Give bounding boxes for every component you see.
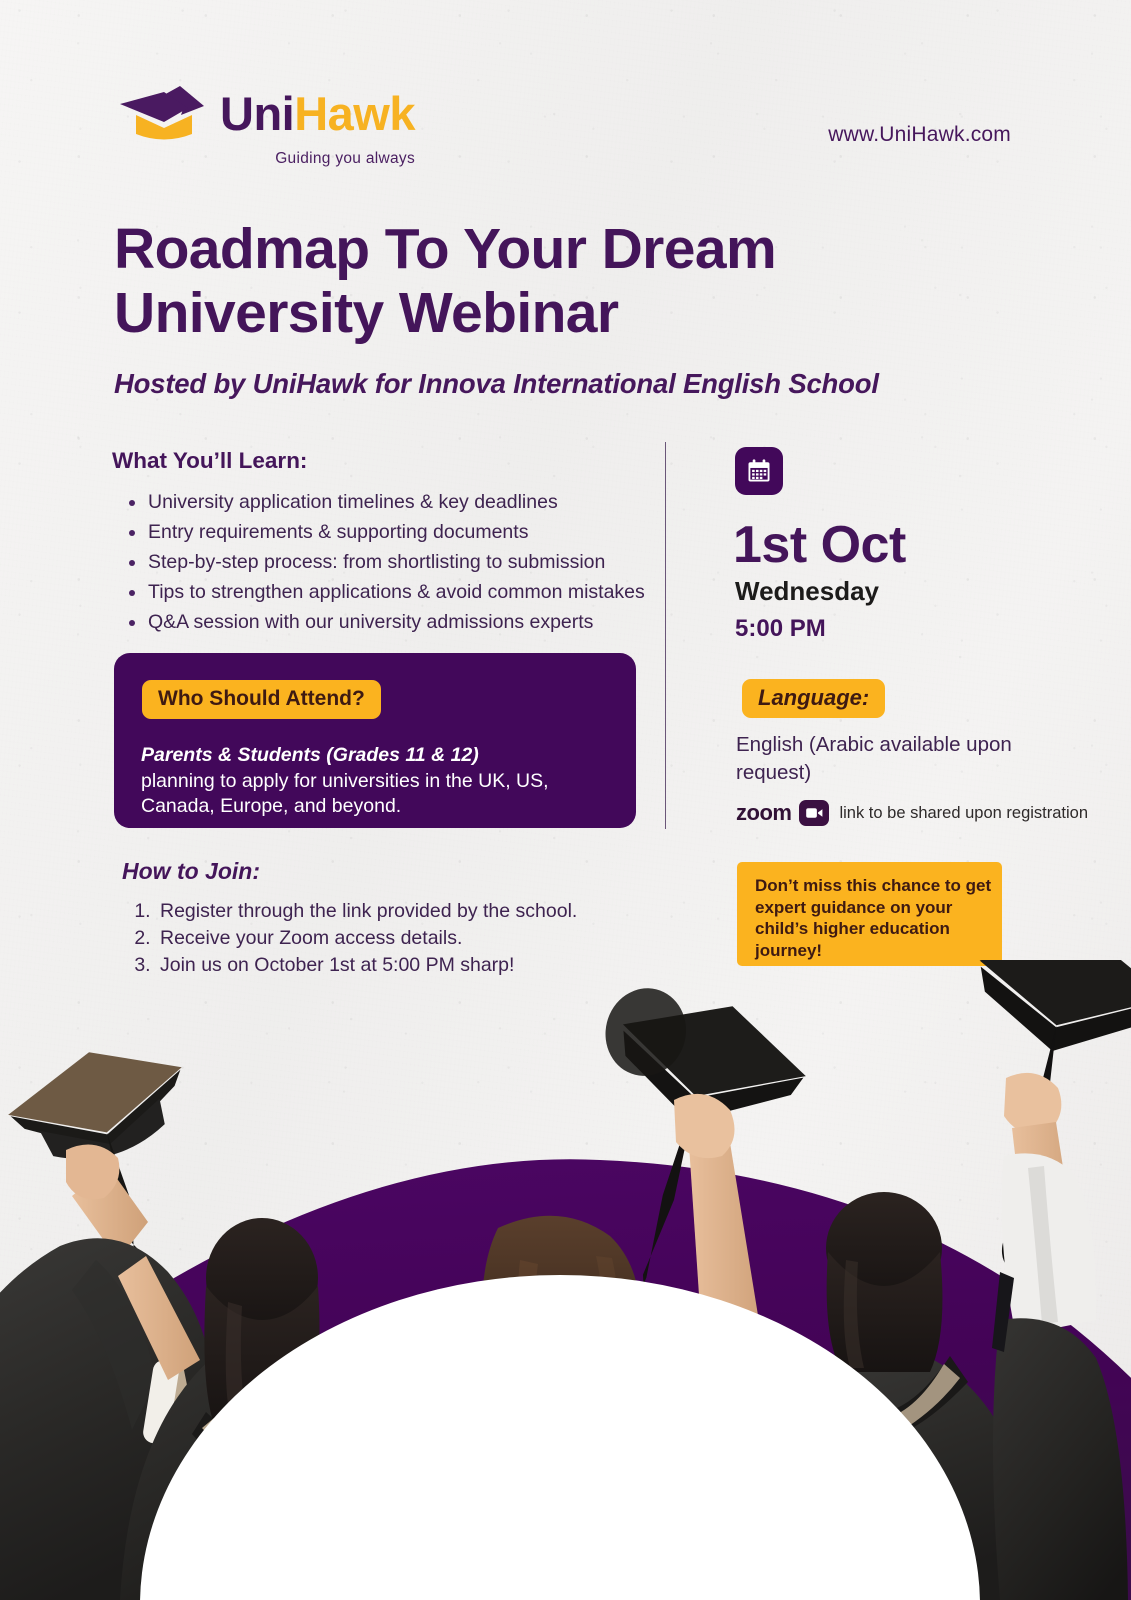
zoom-platform-row: zoom link to be shared upon registration: [736, 800, 1088, 826]
who-should-attend-badge: Who Should Attend?: [142, 680, 381, 719]
list-item: University application timelines & key d…: [148, 490, 693, 516]
event-date: 1st Oct: [733, 515, 906, 575]
what-youll-learn-heading: What You’ll Learn:: [112, 448, 307, 474]
cta-callout-text: Don’t miss this chance to get expert gui…: [755, 875, 995, 961]
page-title: Roadmap To Your Dream University Webinar: [114, 218, 994, 346]
graduates-artwork: [0, 960, 1131, 1600]
zoom-note: link to be shared upon registration: [839, 804, 1088, 823]
event-time: 5:00 PM: [735, 615, 826, 643]
logo-wordmark: UniHawk: [220, 90, 415, 137]
column-divider: [665, 442, 666, 829]
brand-tagline: Guiding you always: [275, 150, 415, 168]
brand-logo[interactable]: UniHawk Guiding you always: [118, 82, 415, 168]
who-should-attend-text: planning to apply for universities in th…: [141, 770, 549, 818]
event-weekday: Wednesday: [735, 576, 879, 607]
list-item: Tips to strengthen applications & avoid …: [148, 580, 693, 606]
language-value: English (Arabic available upon request): [736, 731, 1026, 787]
calendar-icon: [735, 447, 783, 495]
list-item: Q&A session with our university admissio…: [148, 610, 693, 636]
list-item: Step-by-step process: from shortlisting …: [148, 550, 693, 576]
logo-word-uni: Uni: [220, 87, 294, 140]
website-url[interactable]: www.UniHawk.com: [828, 123, 1011, 147]
graduation-cap-hawk-mark-icon: [118, 82, 210, 144]
list-item: Entry requirements & supporting document…: [148, 520, 693, 546]
zoom-wordmark: zoom: [736, 800, 791, 826]
list-item: Receive your Zoom access details.: [156, 925, 676, 952]
list-item: Register through the link provided by th…: [156, 898, 676, 925]
page-subtitle: Hosted by UniHawk for Innova Internation…: [114, 368, 994, 400]
how-to-join-heading: How to Join:: [122, 858, 260, 885]
who-should-attend-card: Who Should Attend? Parents & Students (G…: [114, 653, 636, 828]
logo-row: UniHawk: [118, 82, 415, 144]
who-should-attend-body: Parents & Students (Grades 11 & 12) plan…: [141, 743, 611, 820]
who-should-attend-emphasis: Parents & Students (Grades 11 & 12): [141, 743, 611, 769]
what-youll-learn-list: University application timelines & key d…: [118, 490, 693, 640]
language-badge: Language:: [742, 679, 885, 718]
cta-callout-card: Don’t miss this chance to get expert gui…: [737, 862, 1002, 966]
logo-word-hawk: Hawk: [294, 87, 415, 140]
video-camera-icon: [799, 800, 829, 826]
poster: UniHawk Guiding you always www.UniHawk.c…: [0, 0, 1131, 1600]
